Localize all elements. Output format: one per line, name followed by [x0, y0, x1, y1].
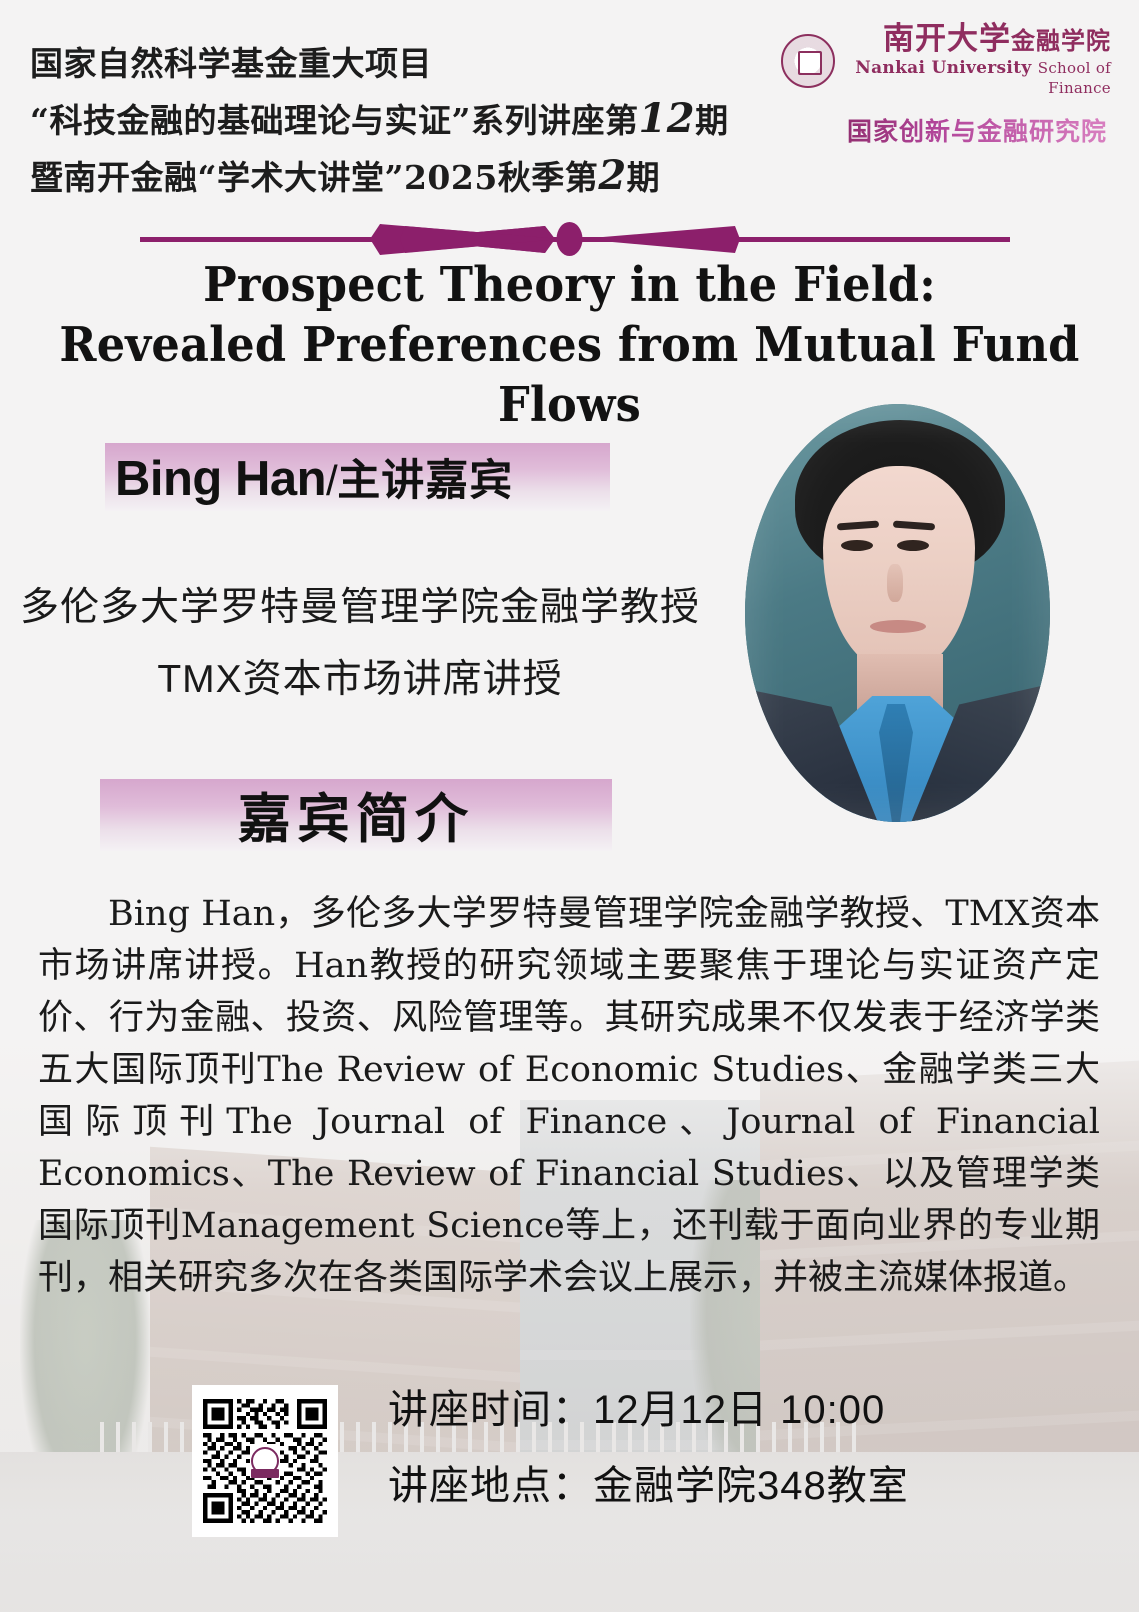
event-info: 讲座时间：12月12日 10:00 讲座地点：金融学院348教室: [388, 1372, 1088, 1524]
logo-university-en: Nankai University: [855, 58, 1031, 78]
logo-university-cn: 南开大学: [883, 21, 1011, 57]
speaker-name-text: Bing Han/主讲嘉宾: [115, 446, 513, 508]
event-time-value: 12月12日 10:00: [593, 1388, 885, 1432]
bio-section-heading: 嘉宾简介: [238, 777, 474, 853]
header-line-2: “科技金融的基础理论与实证”系列讲座第12期: [30, 91, 790, 148]
title-line-1: Prospect Theory in the Field:: [40, 255, 1099, 315]
lecture-poster: 国家自然科学基金重大项目 “科技金融的基础理论与实证”系列讲座第12期 暨南开金…: [0, 0, 1139, 1612]
header-line-1: 国家自然科学基金重大项目: [30, 36, 790, 91]
nankai-logo-block: 南开大学金融学院 Nankai University School of Fin…: [781, 24, 1111, 148]
logo-chinese-name: 南开大学金融学院: [843, 24, 1111, 55]
qr-center-seal-icon: [250, 1444, 280, 1478]
institute-name: 国家创新与金融研究院: [781, 112, 1107, 148]
speaker-affiliation: 多伦多大学罗特曼管理学院金融学教授 TMX资本市场讲席讲授: [0, 572, 720, 716]
speaker-name-en: Bing Han: [115, 452, 326, 506]
registration-qr-code[interactable]: [192, 1385, 338, 1537]
poster-header: 国家自然科学基金重大项目 “科技金融的基础理论与实证”系列讲座第12期 暨南开金…: [0, 0, 1139, 210]
header-line-3: 暨南开金融“学术大讲堂”2025秋季第2期: [30, 148, 790, 205]
event-time-label: 讲座时间：: [388, 1388, 593, 1432]
logo-school-en: School of Finance: [1038, 59, 1111, 97]
bio-section-heading-badge: 嘉宾简介: [100, 779, 612, 851]
event-venue-value: 金融学院348教室: [593, 1464, 909, 1508]
header-line-3-number: 2: [598, 152, 626, 199]
header-line-2-number: 12: [638, 95, 695, 142]
header-text-block: 国家自然科学基金重大项目 “科技金融的基础理论与实证”系列讲座第12期 暨南开金…: [30, 36, 790, 205]
logo-school-cn: 金融学院: [1011, 26, 1111, 55]
event-venue-line: 讲座地点：金融学院348教室: [388, 1448, 1088, 1524]
affiliation-line-1: 多伦多大学罗特曼管理学院金融学教授: [0, 572, 720, 644]
event-time-line: 讲座时间：12月12日 10:00: [388, 1372, 1088, 1448]
affiliation-line-2: TMX资本市场讲席讲授: [0, 644, 720, 716]
speaker-name-slash: /: [326, 457, 337, 504]
bio-paragraph: Bing Han，多伦多大学罗特曼管理学院金融学教授、TMX资本市场讲席讲授。H…: [38, 888, 1100, 1304]
ornamental-divider: [0, 222, 1139, 258]
university-seal-icon: [781, 34, 835, 88]
speaker-name-badge: Bing Han/主讲嘉宾: [105, 443, 610, 511]
header-line-3-suffix: 期: [627, 158, 661, 197]
logo-english-name: Nankai University School of Finance: [843, 58, 1111, 98]
speaker-portrait: [745, 404, 1050, 822]
header-line-2-prefix: “科技金融的基础理论与实证”系列讲座第: [30, 101, 638, 140]
header-line-3-prefix: 暨南开金融“学术大讲堂”2025秋季第: [30, 158, 598, 197]
speaker-role-cn: 主讲嘉宾: [337, 457, 513, 505]
event-venue-label: 讲座地点：: [388, 1464, 593, 1508]
header-line-2-suffix: 期: [695, 101, 729, 140]
